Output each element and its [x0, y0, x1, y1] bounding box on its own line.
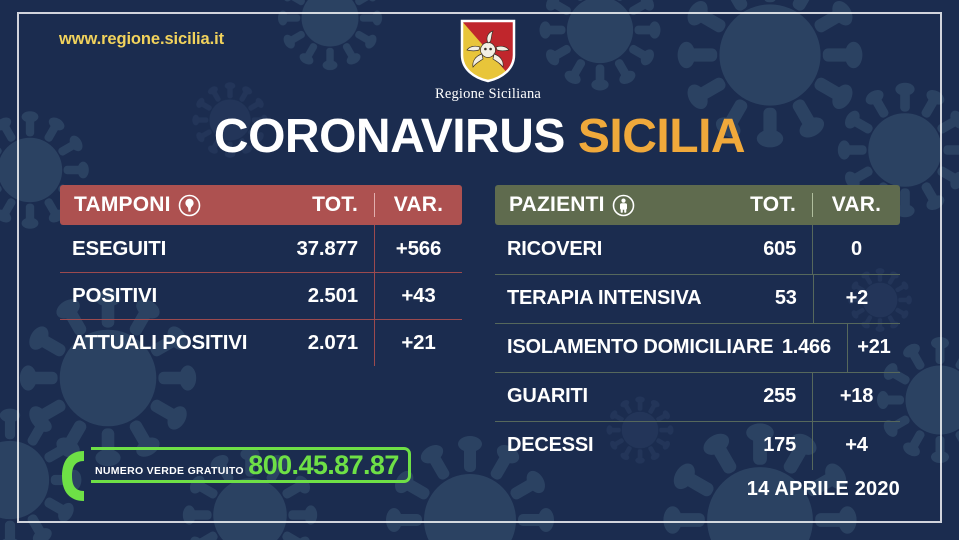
phone-handset-icon — [57, 447, 89, 505]
row-var: +2 — [813, 274, 900, 323]
table-tamponi-body: ESEGUITI 37.877 +566 POSITIVI 2.501 +43 … — [60, 225, 462, 366]
title-main: CORONAVIRUS — [214, 110, 565, 163]
table-row: DECESSI 175 +4 — [495, 421, 900, 470]
row-var: +4 — [812, 421, 900, 470]
table-row: GUARITI 255 +18 — [495, 372, 900, 421]
row-total: 255 — [700, 385, 812, 408]
trinacria-shield-icon — [418, 18, 558, 84]
table-row: ESEGUITI 37.877 +566 — [60, 225, 462, 272]
table-row: RICOVERI 605 0 — [495, 225, 900, 274]
table-tamponi-col-var: VAR. — [374, 193, 462, 217]
table-pazienti-title-cell: PAZIENTI — [495, 193, 700, 217]
row-label: RICOVERI — [495, 238, 700, 261]
table-row: ATTUALI POSITIVI 2.071 +21 — [60, 319, 462, 366]
site-url-text[interactable]: www.regione.sicilia.it — [59, 30, 224, 49]
table-tamponi-col-total: TOT. — [262, 193, 374, 217]
row-var: +18 — [812, 372, 900, 421]
row-total: 2.071 — [262, 331, 374, 355]
row-label: POSITIVI — [60, 284, 262, 308]
row-var: 0 — [812, 225, 900, 274]
table-pazienti-title: PAZIENTI — [509, 193, 605, 217]
title-accent: SICILIA — [578, 110, 745, 163]
row-total: 605 — [700, 238, 812, 261]
phone-number-box: NUMERO VERDE GRATUITO 800.45.87.87 — [91, 447, 411, 483]
table-tamponi-header: TAMPONI TOT. VAR. — [60, 185, 462, 225]
row-total: 2.501 — [262, 284, 374, 308]
row-label: GUARITI — [495, 385, 700, 408]
row-label: ESEGUITI — [60, 237, 262, 261]
row-label: ATTUALI POSITIVI — [60, 331, 262, 355]
row-label: ISOLAMENTO DOMICILIARE — [495, 336, 773, 359]
row-var: +43 — [374, 272, 462, 319]
table-row: ISOLAMENTO DOMICILIARE 1.466 +21 — [495, 323, 900, 372]
infographic-root: www.regione.sicilia.it — [0, 0, 959, 540]
regione-siciliana-logo: Regione Siciliana — [418, 18, 558, 103]
table-pazienti-col-total: TOT. — [700, 193, 812, 217]
phone-label: NUMERO VERDE GRATUITO — [95, 465, 244, 477]
table-tamponi: TAMPONI TOT. VAR. ESEGUITI 37.877 +566 P… — [60, 185, 462, 366]
table-tamponi-title: TAMPONI — [74, 193, 171, 217]
table-tamponi-title-cell: TAMPONI — [60, 193, 262, 217]
table-pazienti-header: PAZIENTI TOT. VAR. — [495, 185, 900, 225]
table-pazienti-body: RICOVERI 605 0 TERAPIA INTENSIVA 53 +2 I… — [495, 225, 900, 470]
row-var: +21 — [374, 319, 462, 366]
table-row: POSITIVI 2.501 +43 — [60, 272, 462, 319]
row-label: DECESSI — [495, 434, 700, 457]
logo-caption: Regione Siciliana — [418, 86, 558, 103]
person-patient-icon — [612, 194, 635, 217]
row-var: +566 — [374, 225, 462, 272]
report-date: 14 APRILE 2020 — [747, 478, 900, 501]
swab-test-icon — [178, 194, 201, 217]
table-row: TERAPIA INTENSIVA 53 +2 — [495, 274, 900, 323]
table-pazienti-col-var: VAR. — [812, 193, 900, 217]
row-total: 53 — [701, 287, 812, 310]
page-title: CORONAVIRUSSICILIA — [0, 113, 959, 161]
row-label: TERAPIA INTENSIVA — [495, 287, 701, 310]
row-var: +21 — [847, 323, 900, 372]
table-pazienti: PAZIENTI TOT. VAR. RICOVERI 605 0 — [495, 185, 900, 470]
toll-free-number-badge[interactable]: NUMERO VERDE GRATUITO 800.45.87.87 — [57, 447, 411, 505]
phone-number: 800.45.87.87 — [248, 450, 398, 480]
row-total: 37.877 — [262, 237, 374, 261]
row-total: 1.466 — [773, 336, 847, 359]
row-total: 175 — [700, 434, 812, 457]
